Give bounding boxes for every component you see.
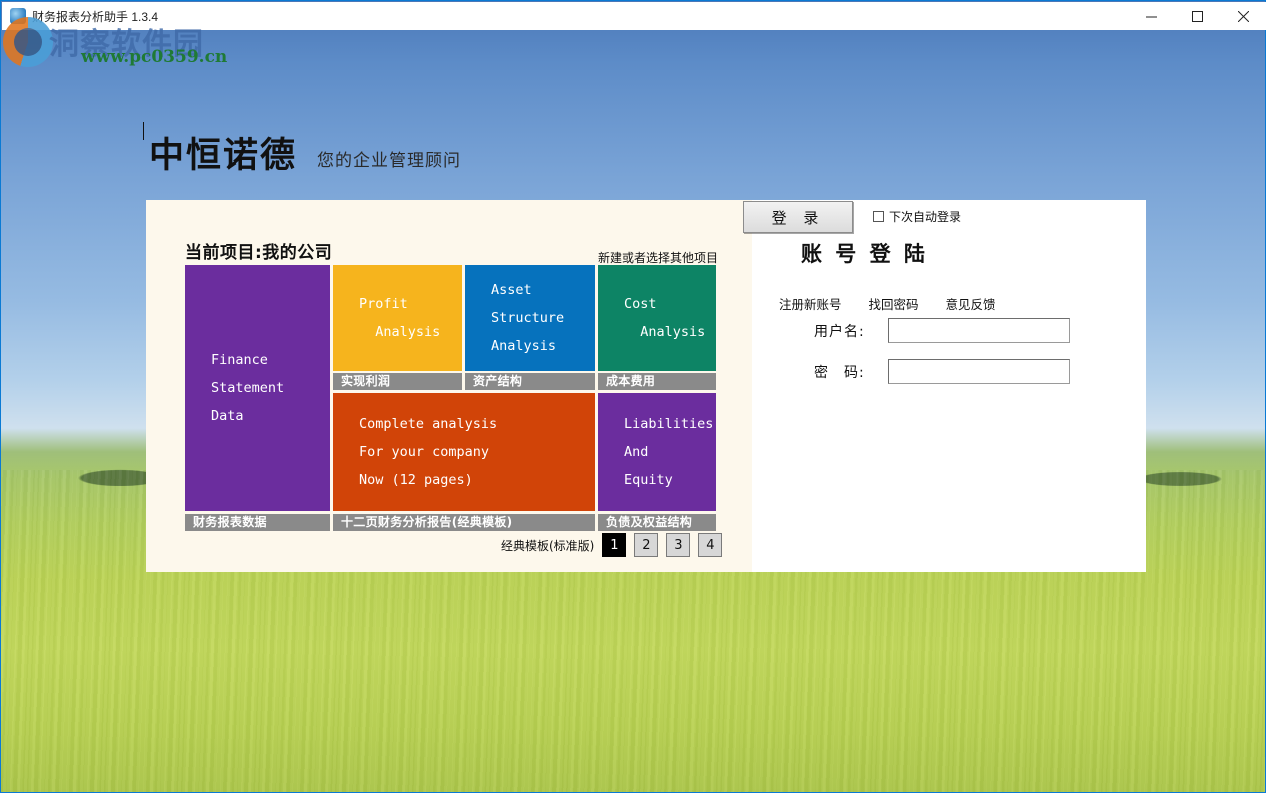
tile-profit-analysis[interactable]: Profit Analysis bbox=[333, 265, 462, 371]
tile-cost-analysis[interactable]: Cost Analysis bbox=[598, 265, 716, 371]
tile-cost-text: Cost Analysis bbox=[624, 290, 705, 346]
brand-tagline: 您的企业管理顾问 bbox=[317, 146, 461, 171]
tile-complete-analysis-report[interactable]: Complete analysis For your company Now (… bbox=[333, 393, 595, 511]
username-label: 用户名: bbox=[814, 321, 888, 341]
current-project-label: 当前项目:我的公司 bbox=[185, 238, 332, 263]
new-or-select-project-link[interactable]: 新建或者选择其他项目 bbox=[598, 249, 718, 266]
template-page-1[interactable]: 1 bbox=[602, 533, 626, 557]
login-helper-links: 注册新账号 找回密码 意见反馈 bbox=[779, 294, 996, 313]
login-title: 账 号 登 陆 bbox=[801, 238, 928, 268]
application-window: 财务报表分析助手 1.3.4 洞察软件园 www.pc0359.cn 中恒诺德 … bbox=[0, 0, 1266, 793]
tile-finance-text: Finance Statement Data bbox=[211, 346, 284, 430]
template-selector: 经典模板(标准版) 1 2 3 4 bbox=[501, 533, 722, 557]
template-label: 经典模板(标准版) bbox=[501, 537, 594, 554]
template-page-3[interactable]: 3 bbox=[666, 533, 690, 557]
checkbox-icon[interactable] bbox=[873, 211, 884, 222]
tile-caption-liability[interactable]: 负债及权益结构 bbox=[598, 514, 716, 531]
password-row: 密 码: bbox=[814, 359, 1070, 384]
watermark-url: www.pc0359.cn bbox=[81, 47, 227, 67]
username-row: 用户名: bbox=[814, 318, 1070, 343]
login-pane: 账 号 登 陆 用户名: 密 码: bbox=[752, 200, 1146, 572]
tile-caption-report[interactable]: 十二页财务分析报告(经典模板) bbox=[333, 514, 595, 531]
tile-profit-text: Profit Analysis bbox=[359, 290, 440, 346]
tile-caption-profit[interactable]: 实现利润 bbox=[333, 373, 462, 390]
password-input[interactable] bbox=[888, 359, 1070, 384]
project-pane: 当前项目:我的公司 新建或者选择其他项目 Finance Statement D… bbox=[146, 200, 752, 572]
tile-caption-cost[interactable]: 成本费用 bbox=[598, 373, 716, 390]
forgot-password-link[interactable]: 找回密码 bbox=[869, 294, 919, 313]
module-tile-grid: Finance Statement Data 财务报表数据 Profit Ana… bbox=[185, 265, 716, 523]
auto-login-checkbox[interactable]: 下次自动登录 bbox=[873, 208, 961, 225]
tile-caption-asset[interactable]: 资产结构 bbox=[465, 373, 595, 390]
feedback-link[interactable]: 意见反馈 bbox=[946, 294, 996, 313]
tile-caption-finance[interactable]: 财务报表数据 bbox=[185, 514, 330, 531]
tile-asset-text: Asset Structure Analysis bbox=[491, 276, 564, 360]
window-controls bbox=[1128, 2, 1266, 30]
login-button[interactable]: 登 录 bbox=[743, 201, 853, 233]
tile-finance-statement-data[interactable]: Finance Statement Data bbox=[185, 265, 330, 511]
window-title: 财务报表分析助手 1.3.4 bbox=[32, 8, 158, 25]
brand-block: 中恒诺德 您的企业管理顾问 bbox=[149, 139, 461, 174]
minimize-icon[interactable] bbox=[1128, 2, 1174, 30]
template-page-4[interactable]: 4 bbox=[698, 533, 722, 557]
brand-name: 中恒诺德 bbox=[149, 139, 297, 174]
template-page-2[interactable]: 2 bbox=[634, 533, 658, 557]
close-icon[interactable] bbox=[1220, 2, 1266, 30]
maximize-icon[interactable] bbox=[1174, 2, 1220, 30]
tile-asset-structure-analysis[interactable]: Asset Structure Analysis bbox=[465, 265, 595, 371]
app-icon bbox=[10, 8, 26, 24]
register-link[interactable]: 注册新账号 bbox=[779, 294, 842, 313]
tile-liability-text: Liabilities And Equity bbox=[624, 410, 713, 494]
title-bar: 财务报表分析助手 1.3.4 bbox=[2, 2, 1266, 30]
main-card: 当前项目:我的公司 新建或者选择其他项目 Finance Statement D… bbox=[146, 200, 1146, 572]
tile-liabilities-and-equity[interactable]: Liabilities And Equity bbox=[598, 393, 716, 511]
text-caret bbox=[143, 122, 144, 140]
username-input[interactable] bbox=[888, 318, 1070, 343]
password-label: 密 码: bbox=[814, 362, 888, 382]
tile-report-text: Complete analysis For your company Now (… bbox=[359, 410, 497, 494]
auto-login-label: 下次自动登录 bbox=[889, 208, 961, 225]
